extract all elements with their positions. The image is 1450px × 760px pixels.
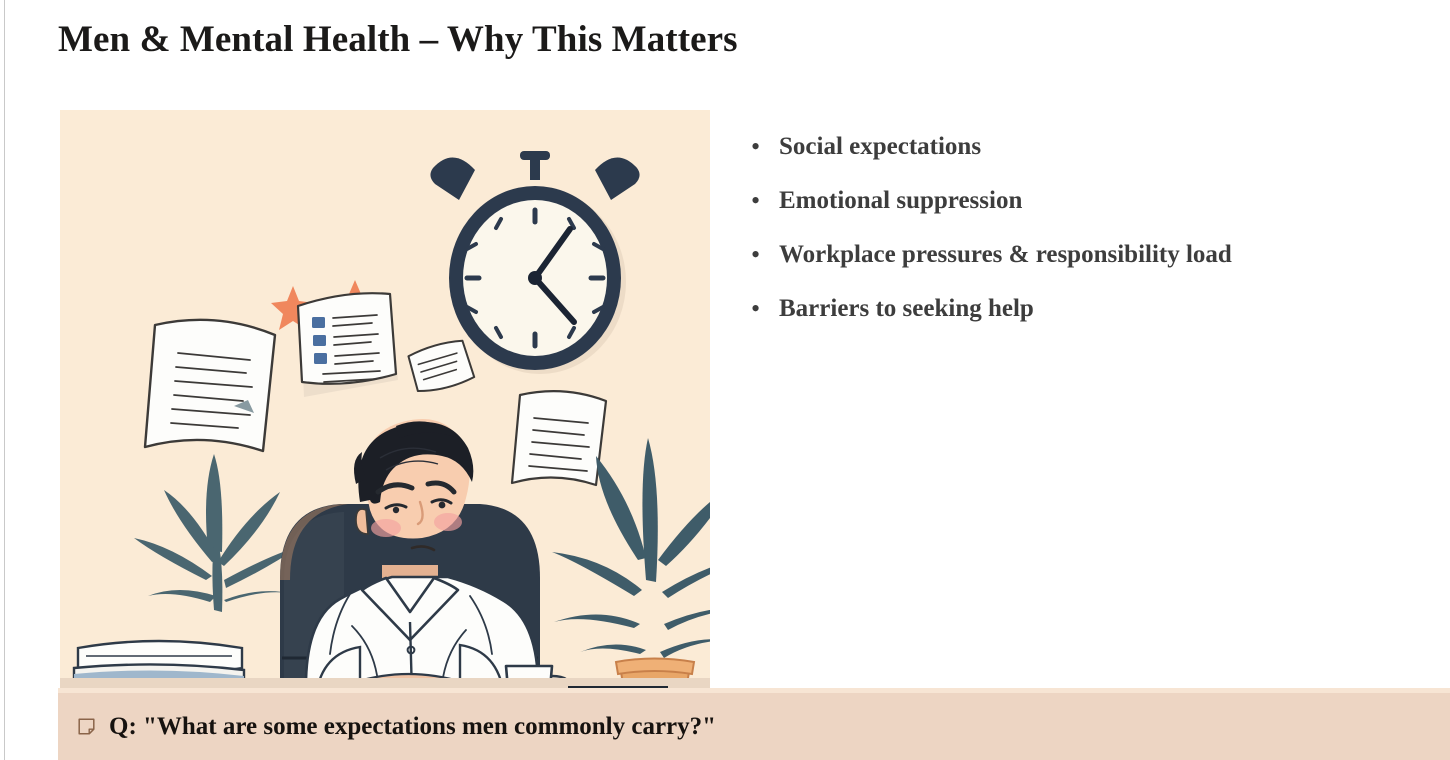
bullet-marker-icon: • [745,130,779,164]
list-item: • Social expectations [745,130,1445,184]
bullet-marker-icon: • [745,238,779,272]
bullet-label-2: Emotional suppression [779,184,1022,218]
bullet-marker-icon: • [745,292,779,326]
list-item: • Barriers to seeking help [745,292,1445,346]
bullet-label-1: Social expectations [779,130,981,164]
stressed-office-worker-illustration [60,110,710,695]
question-banner-text: Q: "What are some expectations men commo… [109,712,716,742]
list-item: • Workplace pressures & responsibility l… [745,238,1445,292]
left-edge-rule [4,0,5,760]
sticky-note-icon [78,718,95,735]
page-title: Men & Mental Health – Why This Matters [58,18,738,62]
bullet-label-4: Barriers to seeking help [779,292,1034,326]
question-banner: Q: "What are some expectations men commo… [58,688,1450,760]
slide-canvas: Men & Mental Health – Why This Matters [0,0,1450,760]
bullet-list: • Social expectations • Emotional suppre… [745,130,1445,346]
bullet-marker-icon: • [745,184,779,218]
bullet-label-3: Workplace pressures & responsibility loa… [779,238,1232,272]
list-item: • Emotional suppression [745,184,1445,238]
